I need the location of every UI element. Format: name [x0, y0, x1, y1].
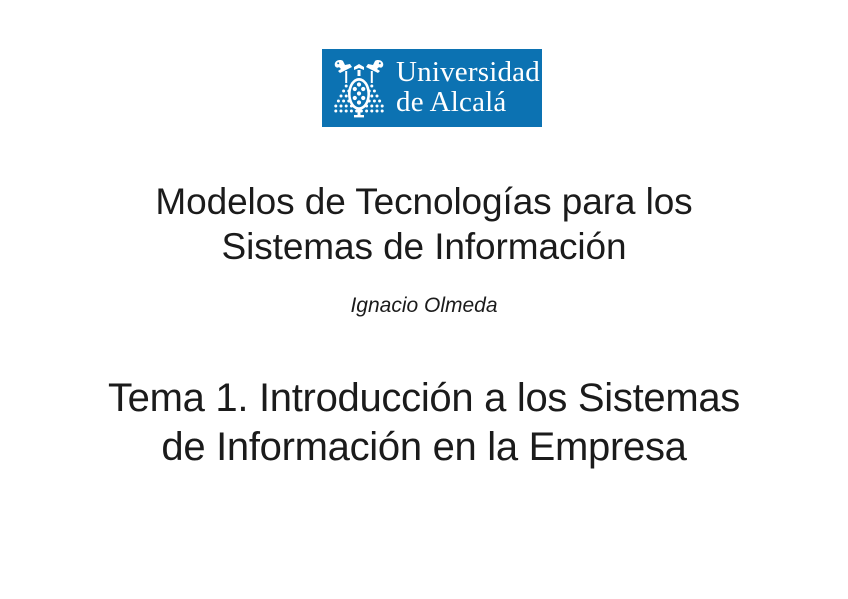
page-title: Modelos de Tecnologías para los Sistemas… [0, 179, 848, 269]
author-name: Ignacio Olmeda [0, 292, 848, 320]
university-crest-icon [328, 52, 390, 124]
logo-line-universidad: Universidad [396, 58, 540, 88]
logo-wordmark: Universidad de Alcalá [396, 58, 540, 117]
subtitle-line-2: de Información en la Empresa [0, 423, 848, 472]
university-logo: Universidad de Alcalá [322, 49, 542, 127]
author-text: Ignacio Olmeda [350, 294, 497, 317]
title-line-2: Sistemas de Información [0, 224, 848, 269]
title-slide: Universidad de Alcalá Modelos de Tecnolo… [0, 0, 848, 599]
logo-background: Universidad de Alcalá [322, 49, 542, 127]
page-subtitle: Tema 1. Introducción a los Sistemas de I… [0, 374, 848, 472]
subtitle-line-1: Tema 1. Introducción a los Sistemas [0, 374, 848, 423]
title-line-1: Modelos de Tecnologías para los [0, 179, 848, 224]
logo-line-de-alcala: de Alcalá [396, 88, 540, 118]
